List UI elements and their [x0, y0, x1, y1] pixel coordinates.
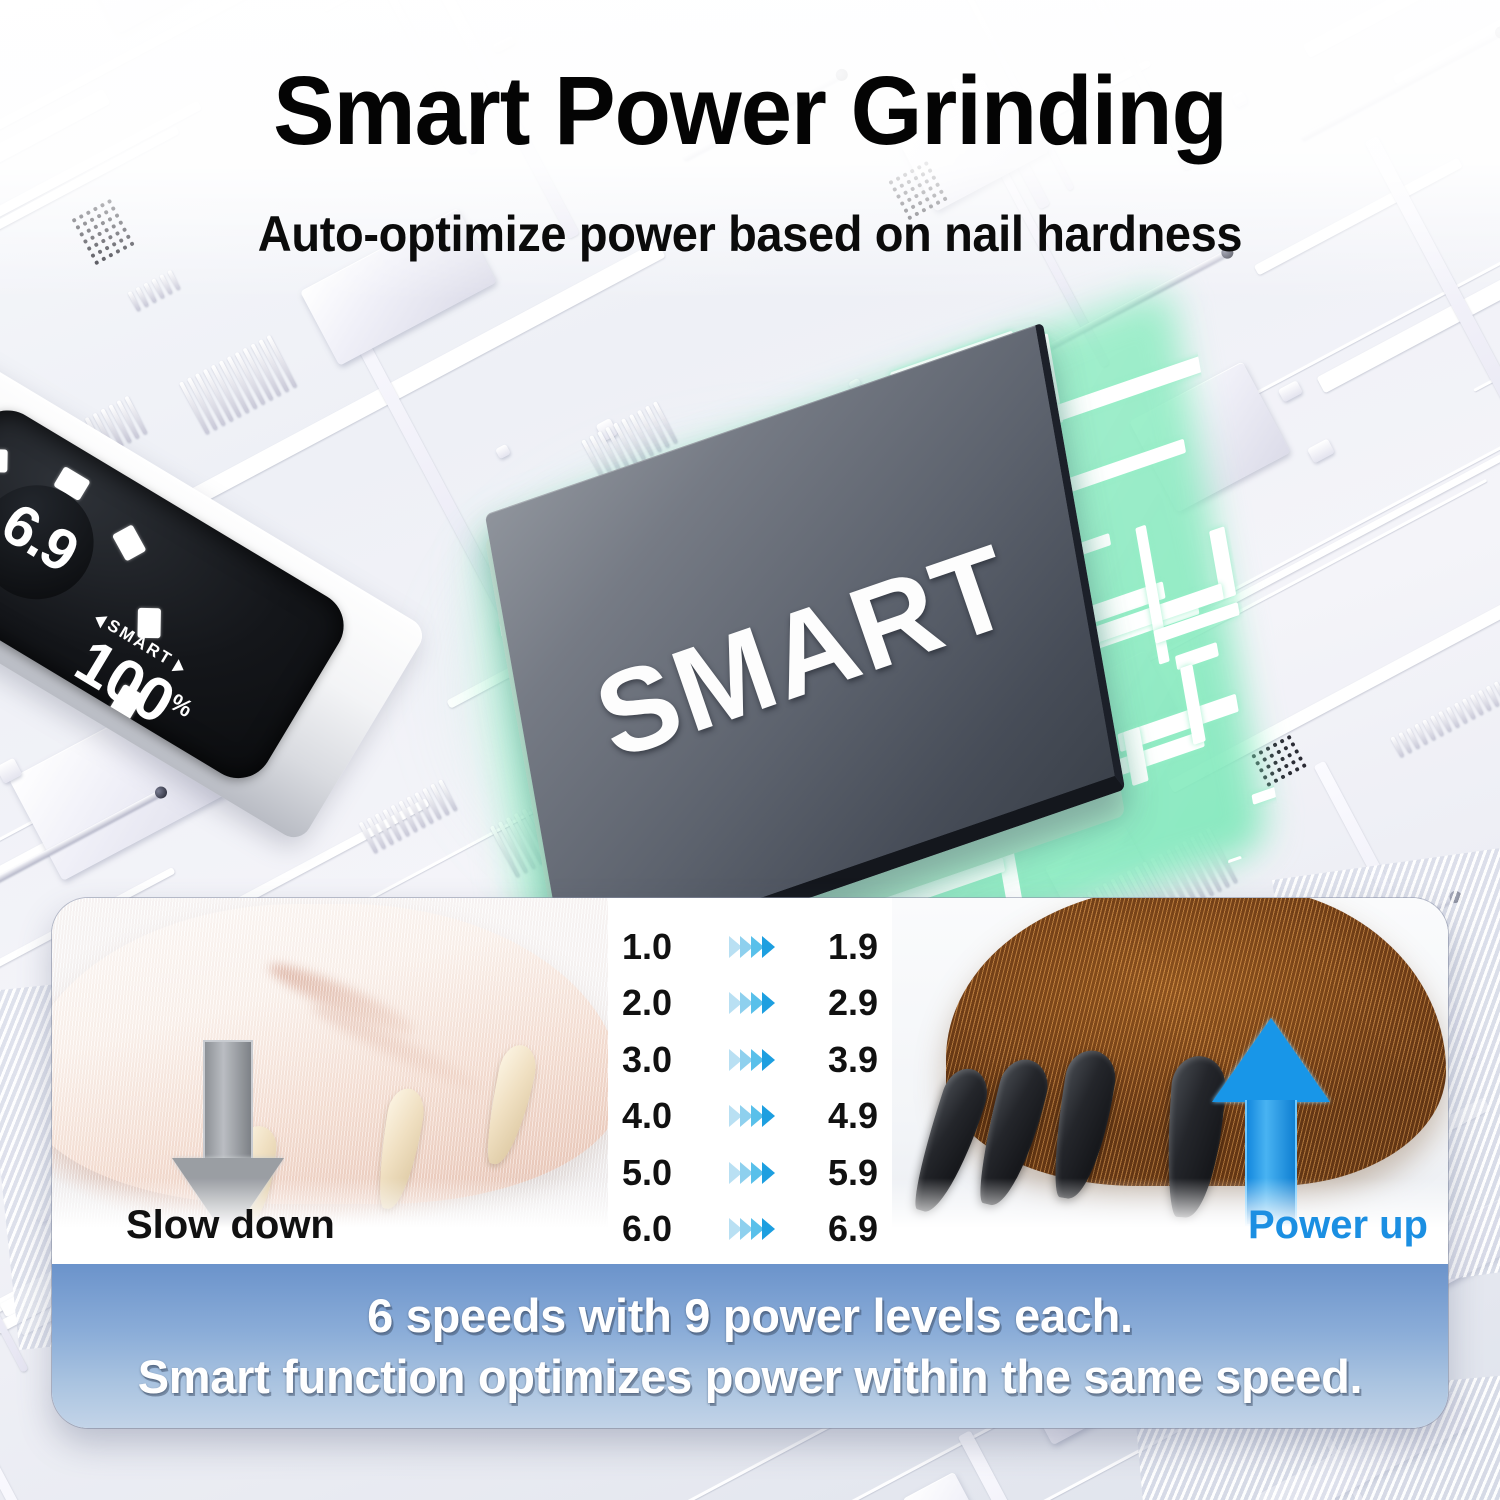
- gauge-segment: [48, 742, 85, 777]
- power-up-label: Power up: [1248, 1203, 1428, 1248]
- chevron-right-icon: [762, 1218, 775, 1240]
- speed-from-value: 5.0: [622, 1152, 694, 1194]
- chevron-group-icon: [729, 936, 772, 958]
- speed-from-value: 3.0: [622, 1039, 694, 1081]
- speed-to-value: 2.9: [806, 982, 878, 1024]
- slow-down-label: Slow down: [126, 1203, 335, 1248]
- speed-from-value: 2.0: [622, 982, 694, 1024]
- speed-to-value: 6.9: [806, 1208, 878, 1250]
- speed-from-value: 1.0: [622, 926, 694, 968]
- speed-table-row: 3.03.9: [622, 1039, 878, 1081]
- gauge-segment: [0, 768, 2, 791]
- chevron-group-icon: [729, 1049, 772, 1071]
- speed-table-row: 6.06.9: [622, 1208, 878, 1250]
- chevron-group-icon: [729, 1218, 772, 1240]
- speed-table-row: 5.05.9: [622, 1152, 878, 1194]
- speed-table-row: 4.04.9: [622, 1095, 878, 1137]
- maze-trace: [1175, 642, 1218, 670]
- speed-to-value: 4.9: [806, 1095, 878, 1137]
- chevron-group-icon: [729, 1162, 772, 1184]
- page-subtitle: Auto-optimize power based on nail hardne…: [45, 205, 1455, 263]
- chevron-group-icon: [729, 1105, 772, 1127]
- speed-to-value: 3.9: [806, 1039, 878, 1081]
- banner-line-2: Smart function optimizes power within th…: [138, 1349, 1363, 1404]
- slow-down-panel: Slow down: [52, 898, 608, 1264]
- banner-line-1: 6 speeds with 9 power levels each.: [367, 1288, 1133, 1343]
- gauge-segment: [0, 449, 8, 473]
- speed-table-panel: 1.01.92.02.93.03.94.04.95.05.96.06.9: [608, 898, 892, 1264]
- speed-table-row: 2.02.9: [622, 982, 878, 1024]
- chevron-right-icon: [762, 936, 775, 958]
- circuit-trace-vertical: [0, 1436, 193, 1500]
- maze-trace: [1251, 736, 1284, 805]
- card-top-row: Slow down 1.01.92.02.93.03.94.04.95.05.9…: [52, 898, 1448, 1264]
- chevron-right-icon: [762, 992, 775, 1014]
- power-up-panel: Power up: [892, 898, 1448, 1264]
- page-title: Smart Power Grinding: [38, 62, 1463, 161]
- chevron-right-icon: [762, 1049, 775, 1071]
- connector-pin-row: [179, 335, 297, 435]
- chip-label: SMART: [580, 518, 1030, 786]
- speed-table: 1.01.92.02.93.03.94.04.95.05.96.06.9: [608, 914, 892, 1254]
- speed-from-value: 4.0: [622, 1095, 694, 1137]
- product-feature-graphic: Smart Power Grinding Auto-optimize power…: [0, 0, 1500, 1500]
- smart-chip-hero: SMART: [360, 290, 1370, 900]
- speed-to-value: 5.9: [806, 1152, 878, 1194]
- chevron-group-icon: [729, 992, 772, 1014]
- speed-from-value: 6.0: [622, 1208, 694, 1250]
- chevron-right-icon: [762, 1162, 775, 1184]
- chevron-right-icon: [762, 1105, 775, 1127]
- speed-table-row: 1.01.9: [622, 926, 878, 968]
- comparison-card: Slow down 1.01.92.02.93.03.94.04.95.05.9…: [52, 898, 1448, 1428]
- card-banner: 6 speeds with 9 power levels each. Smart…: [52, 1264, 1448, 1428]
- speed-to-value: 1.9: [806, 926, 878, 968]
